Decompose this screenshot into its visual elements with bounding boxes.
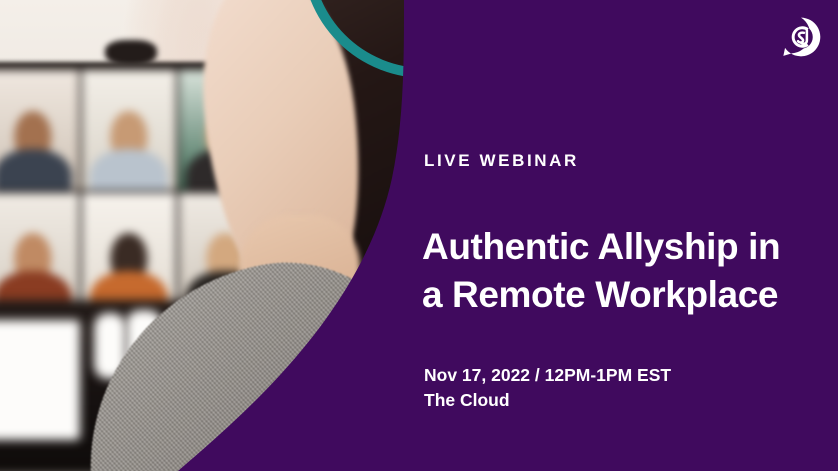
eyebrow-label: LIVE WEBINAR — [424, 152, 579, 169]
event-details: Nov 17, 2022 / 12PM-1PM EST The Cloud — [424, 363, 671, 414]
headline-line-2: a Remote Workplace — [422, 271, 822, 319]
event-location: The Cloud — [424, 388, 671, 413]
event-datetime: Nov 17, 2022 / 12PM-1PM EST — [424, 365, 671, 385]
headline-line-1: Authentic Allyship in — [422, 226, 780, 267]
page-title: Authentic Allyship in a Remote Workplace — [422, 223, 822, 319]
banner-content: LIVE WEBINAR Authentic Allyship in a Rem… — [424, 0, 824, 471]
webinar-promo-banner: LIVE WEBINAR Authentic Allyship in a Rem… — [0, 0, 838, 471]
sj-logo-icon[interactable]: SJ circular monogram logo — [780, 16, 822, 58]
